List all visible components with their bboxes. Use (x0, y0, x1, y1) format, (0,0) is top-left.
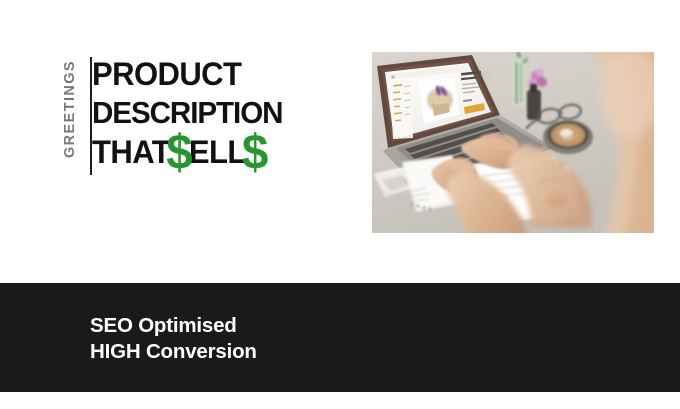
banner-line-high-conversion: HIGH Conversion (90, 339, 257, 365)
greetings-block: GREETINGS (48, 57, 92, 175)
headline-that-word: THAT (92, 133, 170, 172)
bottom-banner: SEO Optimised HIGH Conversion (0, 283, 680, 392)
headline-line-that-sells: THAT $ELL$ (92, 133, 331, 172)
headline-ell-letters: ELL (189, 133, 246, 172)
greetings-label: GREETINGS (59, 50, 81, 168)
hero-photo-artwork (372, 52, 654, 233)
headline-line-description: DESCRIPTION (92, 94, 331, 133)
headline-line-product: PRODUCT (92, 55, 331, 94)
dollar-sign-icon-first: $ (166, 126, 191, 180)
banner-line-seo-optimised: SEO Optimised (90, 313, 257, 339)
slide-canvas: GREETINGS PRODUCT DESCRIPTION THAT $ELL$ (0, 0, 680, 409)
headline: PRODUCT DESCRIPTION THAT $ELL$ (92, 55, 338, 172)
dollar-sign-icon-second: $ (242, 126, 267, 180)
hero-photo (372, 52, 654, 233)
banner-text-block: SEO Optimised HIGH Conversion (90, 313, 257, 365)
